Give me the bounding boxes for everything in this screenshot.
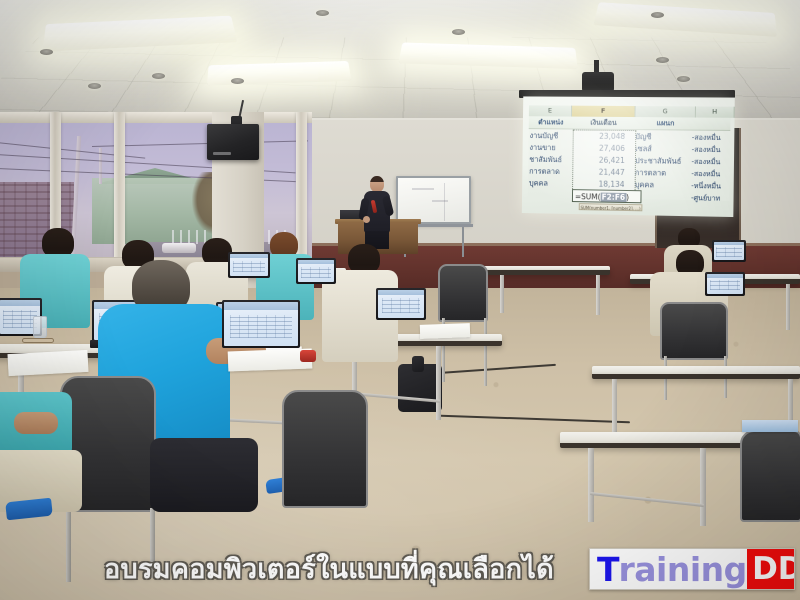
- whiteboard-leg-right: [462, 227, 464, 257]
- cell-note[interactable]: -สองหมื่น: [691, 144, 731, 157]
- spreadsheet-field-header-row: ตำแหน่ง เงินเดือน แผนก: [529, 116, 731, 131]
- trainingdd-logo: Training DD: [589, 548, 795, 590]
- laptop[interactable]: [705, 272, 745, 296]
- formula-prefix: =SUM(: [575, 192, 601, 201]
- logo-letter-t: T: [597, 553, 619, 586]
- chair-leg: [484, 318, 487, 386]
- instructor: [360, 176, 394, 248]
- laptop-screen[interactable]: [298, 260, 334, 282]
- instructor-hand: [363, 216, 370, 223]
- cell-salary[interactable]: 21,447: [570, 166, 632, 179]
- window-top-frame: [0, 112, 312, 123]
- pen-holder: [300, 350, 316, 362]
- cell-position[interactable]: การตลาด: [528, 166, 570, 178]
- paper-handout: [7, 350, 88, 376]
- chair-foreground-right[interactable]: [282, 390, 368, 508]
- drinking-glass: [33, 316, 47, 338]
- formula-entry-cell[interactable]: =SUM(F2:F6): [572, 189, 642, 203]
- student-table-back-right: [480, 266, 610, 275]
- cell-department[interactable]: เซลส์: [632, 143, 691, 156]
- logo-dd-badge: DD: [747, 549, 795, 589]
- whiteboard-marking: [412, 188, 434, 190]
- laptop-lid: [376, 288, 426, 320]
- recessed-downlight-5: [452, 29, 465, 35]
- cell-position[interactable]: ชาสัมพันธ์: [528, 154, 570, 166]
- column-header-f[interactable]: F: [572, 106, 636, 117]
- instructor-head: [370, 176, 384, 192]
- attendee-legs: [150, 438, 258, 512]
- table-leg: [436, 346, 441, 420]
- laptop-screen[interactable]: [707, 274, 743, 294]
- laptop[interactable]: [222, 300, 300, 348]
- field-header-position: ตำแหน่ง: [529, 116, 572, 128]
- recessed-downlight-9: [88, 83, 101, 89]
- paper-worksheet: [420, 323, 470, 339]
- attendee: [0, 392, 72, 512]
- chair-leg: [66, 508, 71, 582]
- table-leg: [588, 448, 594, 522]
- cell-note[interactable]: -สองหมื่น: [690, 156, 730, 169]
- cell-department[interactable]: การตลาด: [632, 167, 691, 180]
- laptop-lid: [296, 258, 336, 284]
- cell-note[interactable]: -สองหมื่น: [690, 168, 730, 181]
- recessed-downlight-4: [316, 10, 329, 16]
- speaker-badge: [213, 152, 231, 155]
- field-header-department: แผนก: [635, 117, 696, 130]
- formula-tooltip: SUM(number1, [number2], ...): [579, 203, 643, 211]
- whiteboard: [396, 176, 471, 224]
- recessed-downlight-7: [656, 57, 669, 63]
- table-leg: [596, 275, 600, 315]
- table-leg: [612, 379, 617, 437]
- laptop[interactable]: [228, 252, 270, 278]
- field-header-blank: [696, 118, 735, 130]
- whiteboard-marking: [444, 183, 445, 221]
- student-table-right-front: [592, 366, 800, 379]
- field-header-salary: เงินเดือน: [572, 117, 636, 130]
- recessed-downlight-6: [651, 12, 664, 18]
- cell-department[interactable]: บัญชี: [632, 131, 691, 144]
- whiteboard-marking: [432, 200, 448, 202]
- chair[interactable]: [660, 302, 728, 360]
- laptop[interactable]: [296, 258, 336, 284]
- attendee-arm: [14, 412, 58, 434]
- photo-caption: อบรมคอมพิวเตอร์ในแบบที่คุณเลือกได้: [104, 547, 554, 590]
- ceiling-projector: [582, 72, 614, 92]
- laptop-screen[interactable]: [230, 254, 268, 276]
- cell-position[interactable]: งานขาย: [528, 142, 570, 154]
- eyeglasses: [22, 338, 54, 343]
- column-header-h[interactable]: H: [696, 106, 735, 117]
- table-leg: [786, 284, 790, 330]
- chair[interactable]: [438, 264, 488, 322]
- recessed-downlight-1: [40, 49, 53, 55]
- cell-note[interactable]: -สองหมื่น: [691, 132, 731, 145]
- recessed-downlight-8: [677, 76, 690, 82]
- logo-wordmark: Training: [590, 549, 747, 589]
- cell-department[interactable]: ประชาสัมพันธ์: [632, 155, 691, 168]
- cell-salary[interactable]: 26,421: [570, 154, 632, 167]
- spreadsheet-view: E F G H ตำแหน่ง เงินเดือน แผนก งานบัญชี …: [528, 105, 731, 200]
- cell-salary[interactable]: 27,406: [570, 142, 632, 155]
- cell-salary[interactable]: 23,048: [570, 130, 632, 143]
- laptop-screen[interactable]: [378, 290, 424, 318]
- recessed-downlight-3: [231, 78, 244, 84]
- classroom-photo: E F G H ตำแหน่ง เงินเดือน แผนก งานบัญชี …: [0, 0, 800, 600]
- logo-dd-text: DD: [752, 554, 795, 585]
- column-header-e[interactable]: E: [529, 105, 572, 116]
- laptop-screen[interactable]: [224, 302, 298, 346]
- cell-position[interactable]: บุคคล: [528, 178, 570, 191]
- formula-range[interactable]: F2:F6: [601, 193, 627, 202]
- cell-note[interactable]: -หนึ่งหมื่น: [690, 180, 730, 193]
- wall-speaker: [207, 124, 259, 160]
- chair[interactable]: [740, 430, 800, 522]
- laptop-lid: [705, 272, 745, 296]
- projection-screen: E F G H ตำแหน่ง เงินเดือน แผนก งานบัญชี …: [522, 96, 735, 217]
- paper-stack: [742, 420, 798, 432]
- table-leg: [700, 448, 706, 526]
- logo-word-raining: raining: [619, 553, 747, 586]
- cell-extra-note[interactable]: -ศูนย์บาท: [690, 192, 730, 205]
- formula-suffix: ): [626, 193, 629, 202]
- window-mullion-2: [114, 112, 125, 257]
- laptop-lid: [228, 252, 270, 278]
- laptop[interactable]: [376, 288, 426, 320]
- cell-position[interactable]: งานบัญชี: [529, 130, 571, 142]
- laptop-lid: [222, 300, 300, 348]
- backpack-strap: [412, 356, 424, 372]
- recessed-downlight-2: [152, 73, 165, 79]
- cell-blank: [528, 189, 570, 202]
- column-header-g[interactable]: G: [635, 106, 696, 117]
- table-leg: [500, 275, 504, 313]
